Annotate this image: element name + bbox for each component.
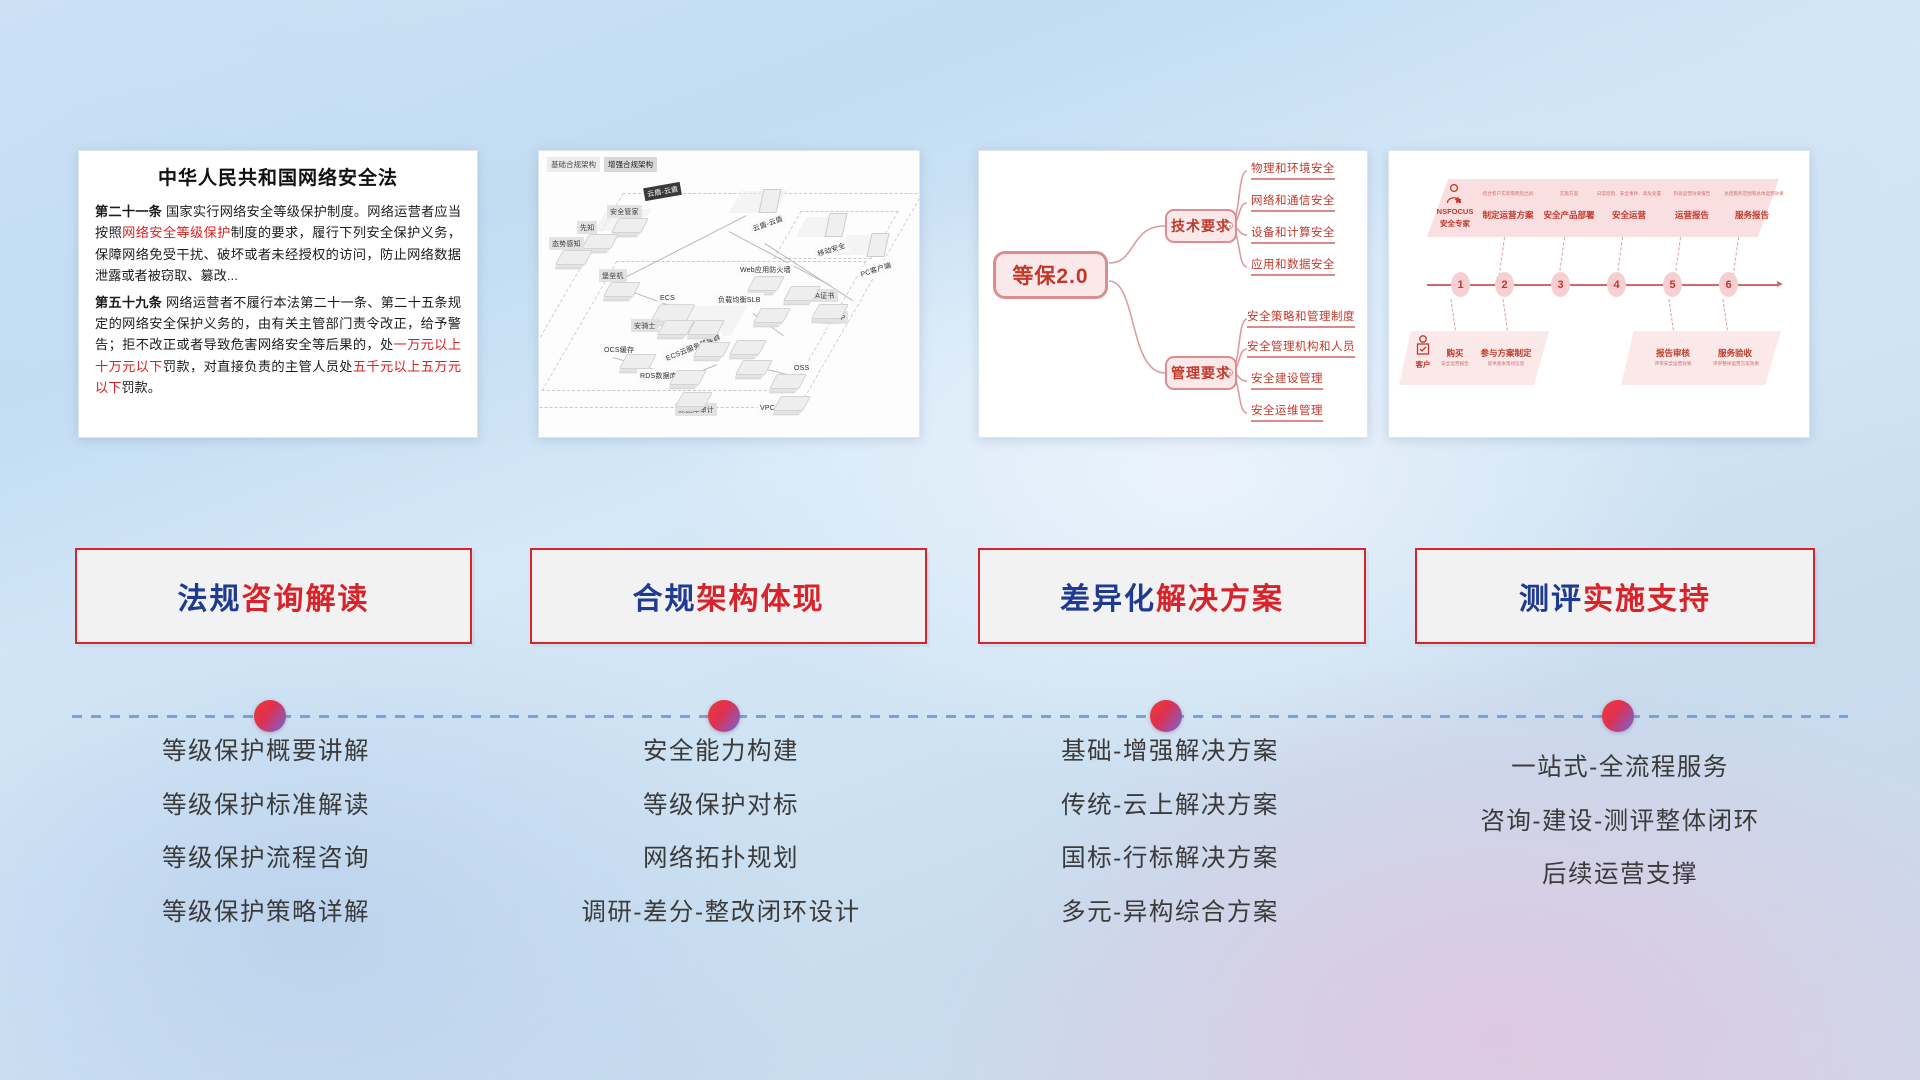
top-step-3-title: 安全运营 bbox=[1599, 209, 1659, 221]
list-item: 多元-异构综合方案 bbox=[990, 901, 1350, 926]
nsfocus-timeline-diagram: NSFOCUS 安全专家 结合客户实际需明后出具 制定运营方案 实施方案 安全产… bbox=[1389, 151, 1809, 437]
list-item: 基础-增强解决方案 bbox=[990, 740, 1350, 765]
timeline-step-2-label: 2 bbox=[1501, 279, 1507, 291]
card-mindmap-dengbao: 等保2.0 技术要求 管理要求 物理和环境安全 网络和通信安全 设备和计算安全 … bbox=[978, 150, 1368, 438]
node-label-situation-awareness: 态势感知 bbox=[549, 237, 584, 250]
bottom-step-1-title: 购买 bbox=[1435, 347, 1475, 359]
headline-2-red: 架构体现 bbox=[697, 574, 825, 618]
timeline-step-5-label: 5 bbox=[1669, 279, 1675, 291]
top-step-5-title: 服务报告 bbox=[1721, 209, 1783, 221]
top-step-5-sub: 总结服务范围和总体运营效果 bbox=[1717, 191, 1791, 197]
expert-icon bbox=[1445, 183, 1463, 205]
timeline-step-3-label: 3 bbox=[1557, 279, 1563, 291]
list-item: 等级保护对标 bbox=[546, 794, 896, 819]
feature-column-assessment-support: 一站式-全流程服务 咨询-建设-测评整体闭环 后续运营支撑 bbox=[1440, 740, 1800, 917]
timeline-marker-1[interactable] bbox=[254, 700, 286, 732]
connector-dash-9 bbox=[1722, 299, 1728, 335]
feature-column-regulation-consulting: 等级保护概要讲解 等级保护标准解读 等级保护流程咨询 等级保护策略详解 bbox=[96, 740, 436, 954]
law-document: 中华人民共和国网络安全法 第二十一条 国家实行网络安全等级保护制度。网络运营者应… bbox=[79, 151, 477, 406]
headline-4-red: 实施支持 bbox=[1583, 574, 1711, 618]
top-step-4-sub: 阶段运营效果报告 bbox=[1659, 191, 1725, 197]
mindmap-leaf-app-data: 应用和数据安全 bbox=[1251, 256, 1335, 276]
top-step-1-title: 制定运营方案 bbox=[1477, 209, 1539, 221]
node-label-slb: 负载均衡SLB bbox=[715, 293, 764, 306]
top-step-1-sub: 结合客户实际需明后出具 bbox=[1477, 191, 1539, 197]
list-item: 调研-差分-整改闭环设计 bbox=[546, 901, 896, 926]
feature-columns: 等级保护概要讲解 等级保护标准解读 等级保护流程咨询 等级保护策略详解 安全能力… bbox=[0, 740, 1920, 980]
list-item: 等级保护流程咨询 bbox=[96, 847, 436, 872]
article-59-label: 第五十九条 bbox=[95, 295, 162, 310]
expert-role-line2: 安全专家 bbox=[1429, 218, 1481, 229]
list-item: 网络拓扑规划 bbox=[546, 847, 896, 872]
connector-dash-8 bbox=[1668, 299, 1674, 335]
mindmap-collapse-dot-management[interactable] bbox=[1226, 369, 1233, 376]
top-step-2-title: 安全产品部署 bbox=[1541, 209, 1597, 221]
node-cube-vpc bbox=[773, 396, 811, 411]
mindmap-leaf-org-personnel: 安全管理机构和人员 bbox=[1247, 338, 1355, 358]
connector-dash-7 bbox=[1502, 299, 1508, 335]
timeline-step-1: 1 bbox=[1451, 272, 1470, 297]
law-title: 中华人民共和国网络安全法 bbox=[95, 163, 461, 190]
headline-box-compliance-architecture[interactable]: 合规架构体现 bbox=[530, 548, 927, 644]
list-item: 传统-云上解决方案 bbox=[990, 794, 1350, 819]
bottom-step-4-sub: 评审整体运营方案效果 bbox=[1703, 361, 1769, 367]
card-cybersecurity-law: 中华人民共和国网络安全法 第二十一条 国家实行网络安全等级保护制度。网络运营者应… bbox=[78, 150, 478, 438]
node-label-ecs: ECS bbox=[657, 293, 678, 303]
headline-box-differentiated-solution[interactable]: 差异化解决方案 bbox=[978, 548, 1366, 644]
mindmap-branch-management-label: 管理要求 bbox=[1171, 363, 1231, 383]
top-step-4-title: 运营报告 bbox=[1661, 209, 1723, 221]
mindmap-leaf-policy-system: 安全策略和管理制度 bbox=[1247, 308, 1355, 328]
list-item: 国标-行标解决方案 bbox=[990, 847, 1350, 872]
mindmap-root-label: 等保2.0 bbox=[1012, 260, 1088, 290]
node-label-waf: Web应用防火墙 bbox=[737, 263, 794, 276]
timeline-step-6-label: 6 bbox=[1725, 279, 1731, 291]
mindmap-root-node: 等保2.0 bbox=[993, 251, 1108, 299]
list-item: 一站式-全流程服务 bbox=[1440, 756, 1800, 781]
list-item: 安全能力构建 bbox=[546, 740, 896, 765]
list-item: 咨询-建设-测评整体闭环 bbox=[1440, 810, 1800, 835]
mindmap-leaf-device-compute: 设备和计算安全 bbox=[1251, 224, 1335, 244]
list-item: 等级保护标准解读 bbox=[96, 794, 436, 819]
node-label-security-steward: 安全管家 bbox=[607, 205, 642, 218]
connector-dash-6 bbox=[1450, 299, 1456, 335]
mindmap-collapse-dot-technical[interactable] bbox=[1226, 222, 1233, 229]
timeline-step-4-label: 4 bbox=[1613, 279, 1619, 291]
timeline-step-4: 4 bbox=[1607, 272, 1626, 297]
headline-4-blue: 测评 bbox=[1519, 574, 1583, 618]
timeline-marker-3[interactable] bbox=[1150, 700, 1182, 732]
mindmap-leaf-physical-env: 物理和环境安全 bbox=[1251, 160, 1335, 180]
bottom-step-1-sub: 安全运营报告 bbox=[1433, 361, 1477, 367]
bottom-step-3-title: 报告审核 bbox=[1645, 347, 1701, 359]
headline-3-blue: 差异化 bbox=[1060, 574, 1156, 618]
top-step-3-sub: 日常巡检、安全事件、高危处置 bbox=[1595, 191, 1663, 197]
progress-timeline bbox=[0, 694, 1920, 738]
bottom-step-2-title: 参与方案制定 bbox=[1475, 347, 1537, 359]
illustration-card-row: 中华人民共和国网络安全法 第二十一条 国家实行网络安全等级保护制度。网络运营者应… bbox=[0, 150, 1920, 440]
mindmap-leaf-network-comm: 网络和通信安全 bbox=[1251, 192, 1335, 212]
cloud-architecture-diagram: 基础合规架构 增强合规架构 云盾-云盾 安全管家 bbox=[539, 151, 919, 437]
feature-column-differentiated-solution: 基础-增强解决方案 传统-云上解决方案 国标-行标解决方案 多元-异构综合方案 bbox=[990, 740, 1350, 954]
timeline-marker-4[interactable] bbox=[1602, 700, 1634, 732]
headline-2-blue: 合规 bbox=[633, 574, 697, 618]
headline-1-blue: 法规 bbox=[178, 574, 242, 618]
feature-column-compliance-architecture: 安全能力构建 等级保护对标 网络拓扑规划 调研-差分-整改闭环设计 bbox=[546, 740, 896, 954]
timeline-dashed-line bbox=[72, 715, 1848, 718]
article-21-label: 第二十一条 bbox=[95, 204, 162, 219]
headline-box-regulation-consulting[interactable]: 法规咨询解读 bbox=[75, 548, 472, 644]
node-label-aegis: 安骑士 bbox=[631, 319, 659, 332]
timeline-step-2: 2 bbox=[1495, 272, 1514, 297]
headline-1-red: 咨询解读 bbox=[242, 574, 370, 618]
node-label-xianzhi: 先知 bbox=[577, 221, 597, 234]
bottom-step-2-sub: 提供基本现状信息 bbox=[1477, 361, 1535, 367]
list-item: 等级保护概要讲解 bbox=[96, 740, 436, 765]
list-item: 等级保护策略详解 bbox=[96, 901, 436, 926]
timeline-step-3: 3 bbox=[1551, 272, 1570, 297]
law-article-59: 第五十九条 网络运营者不履行本法第二十一条、第二十五条规定的网络安全保护义务的，… bbox=[95, 292, 461, 399]
timeline-marker-2[interactable] bbox=[708, 700, 740, 732]
expert-role-line1: NSFOCUS bbox=[1429, 207, 1481, 216]
headline-box-assessment-support[interactable]: 测评实施支持 bbox=[1415, 548, 1815, 644]
mindmap-leaf-construction-mgmt: 安全建设管理 bbox=[1251, 370, 1323, 390]
mindmap-branch-technical-label: 技术要求 bbox=[1171, 216, 1231, 236]
headline-3-red: 解决方案 bbox=[1156, 574, 1284, 618]
article-21-highlight: 网络安全等级保护 bbox=[122, 225, 231, 240]
tab-enhanced-architecture: 增强合规架构 bbox=[604, 157, 657, 172]
headline-row: 法规咨询解读 合规架构体现 差异化解决方案 测评实施支持 bbox=[0, 548, 1920, 650]
law-article-21: 第二十一条 国家实行网络安全等级保护制度。网络运营者应当按照网络安全等级保护制度… bbox=[95, 201, 461, 287]
list-item: 后续运营支撑 bbox=[1440, 863, 1800, 888]
dengbao-mindmap: 等保2.0 技术要求 管理要求 物理和环境安全 网络和通信安全 设备和计算安全 … bbox=[979, 151, 1367, 437]
node-label-oss: OSS bbox=[791, 363, 812, 373]
customer-icon bbox=[1415, 335, 1431, 357]
card-nsfocus-service-timeline: NSFOCUS 安全专家 结合客户实际需明后出具 制定运营方案 实施方案 安全产… bbox=[1388, 150, 1810, 438]
mindmap-leaf-operations-mgmt: 安全运维管理 bbox=[1251, 402, 1323, 422]
tab-basic-architecture: 基础合规架构 bbox=[547, 157, 600, 172]
node-label-bastion-host: 堡垒机 bbox=[599, 269, 627, 282]
article-59-text-c: 罚款。 bbox=[121, 380, 161, 395]
article-59-text-b: 罚款，对直接负责的主管人员处 bbox=[163, 359, 353, 374]
architecture-tabs: 基础合规架构 增强合规架构 bbox=[547, 157, 657, 172]
top-step-2-sub: 实施方案 bbox=[1541, 191, 1597, 197]
timeline-arrow-icon bbox=[1777, 281, 1783, 287]
bottom-step-4-title: 服务验收 bbox=[1707, 347, 1763, 359]
card-compliance-architecture: 基础合规架构 增强合规架构 云盾-云盾 安全管家 bbox=[538, 150, 920, 438]
timeline-step-1-label: 1 bbox=[1457, 279, 1463, 291]
timeline-step-5: 5 bbox=[1663, 272, 1682, 297]
bottom-step-3-sub: 评审安全运营效果 bbox=[1643, 361, 1703, 367]
timeline-step-6: 6 bbox=[1719, 272, 1738, 297]
